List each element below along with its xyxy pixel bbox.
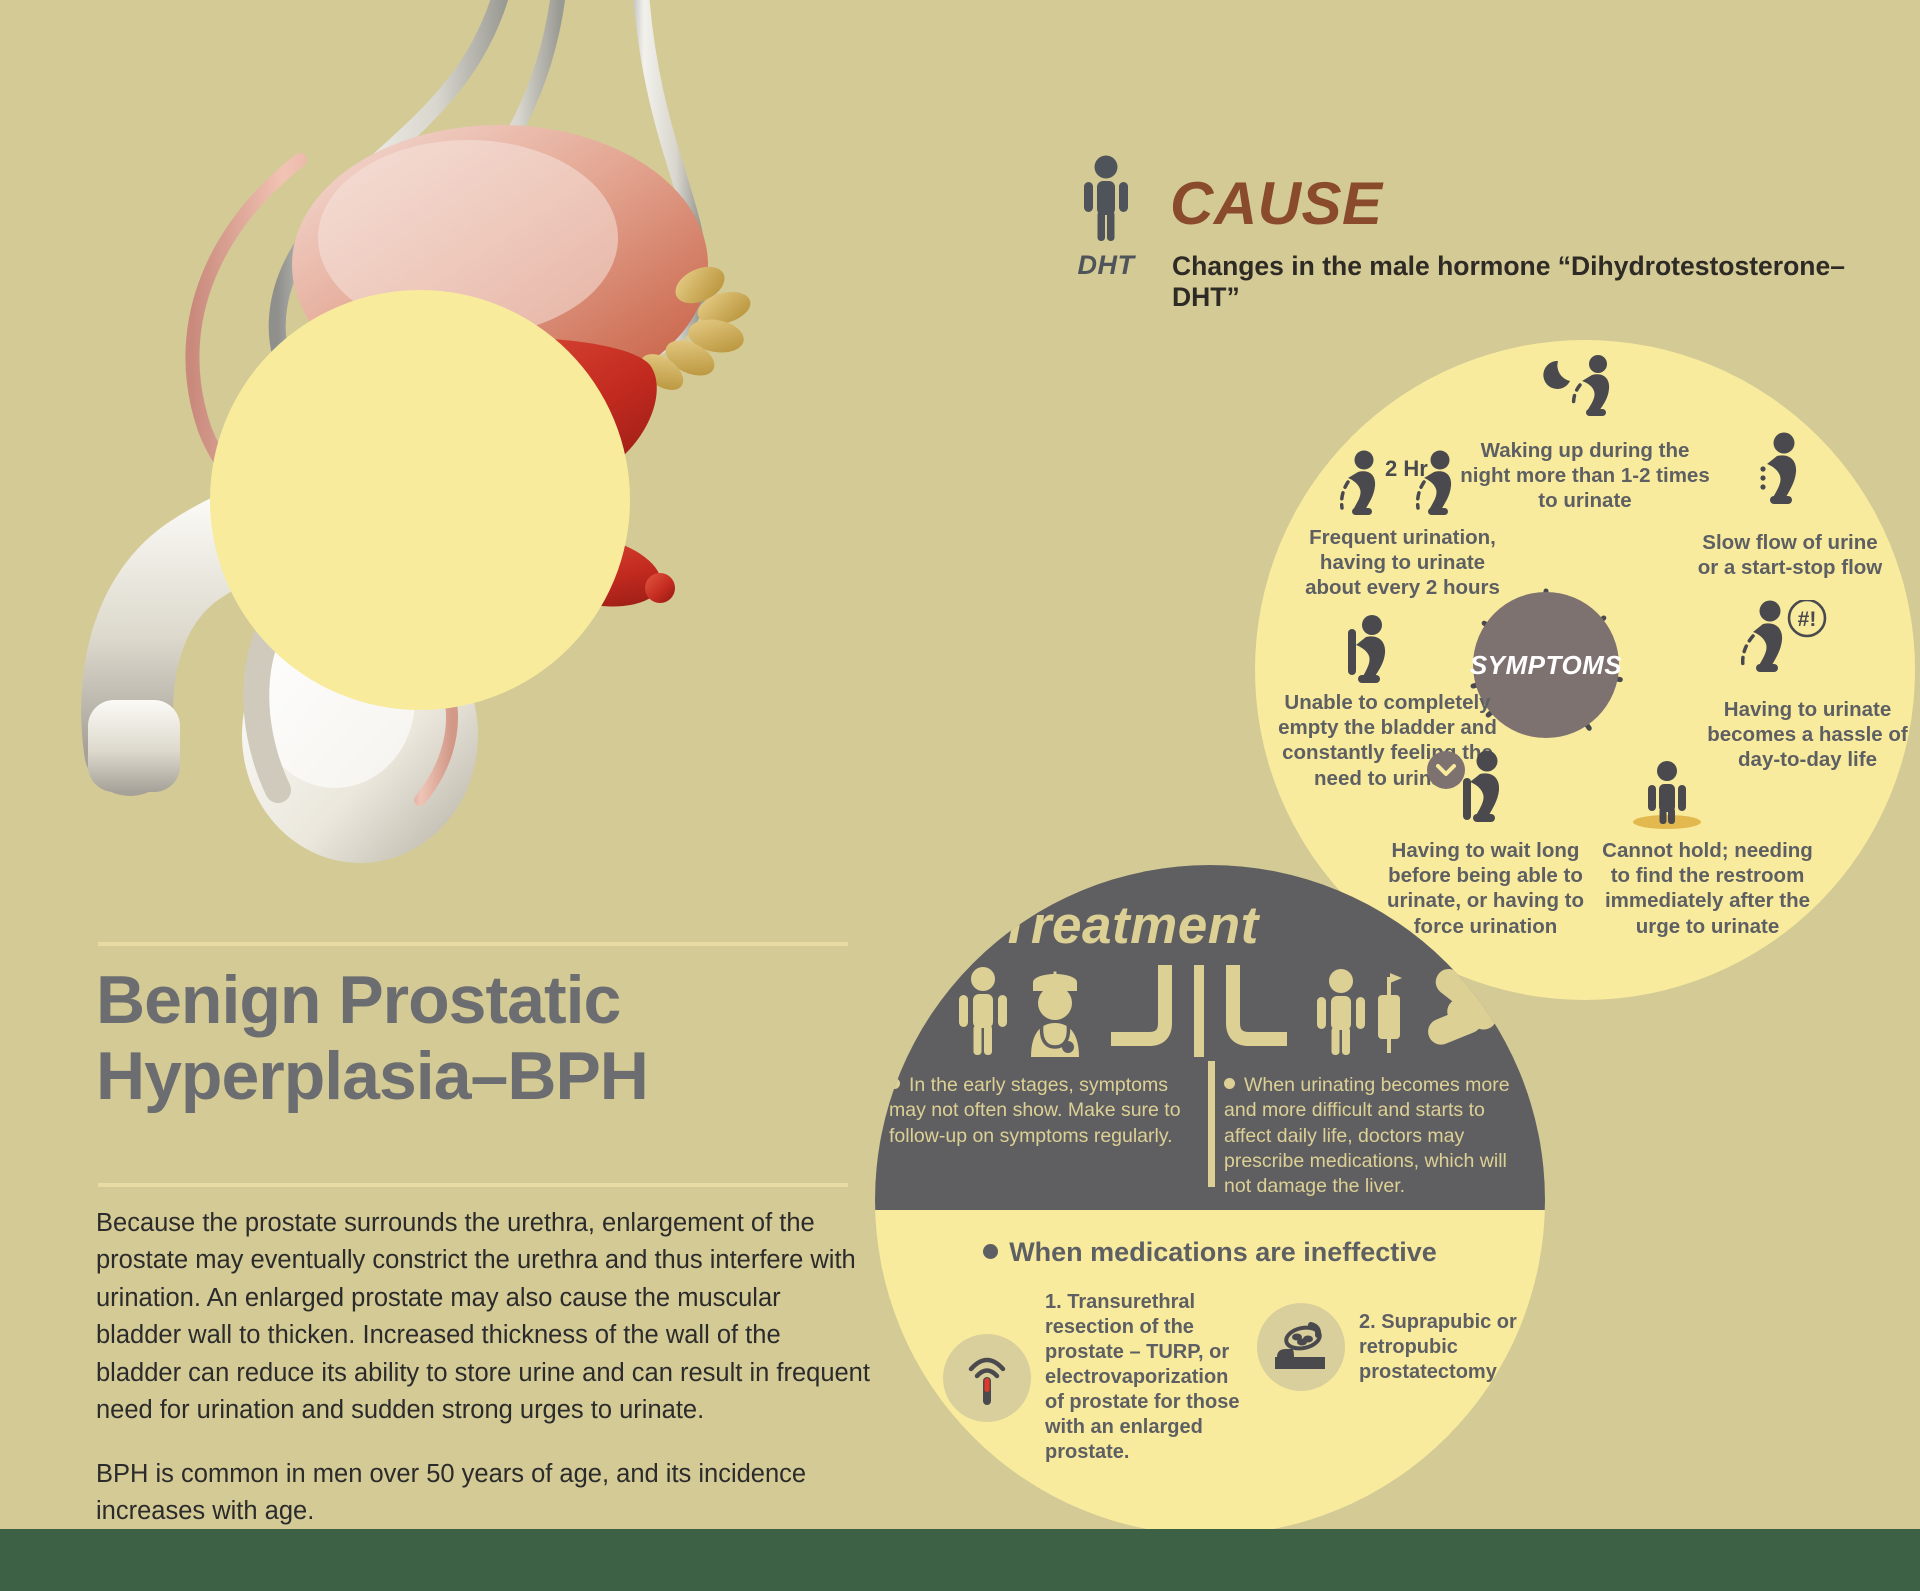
symptom-icon-hassle: #! bbox=[1725, 600, 1835, 689]
patient-icon bbox=[959, 967, 1007, 1055]
cause-subtitle: Changes in the male hormone “Dihydrotest… bbox=[1172, 251, 1872, 313]
symptom-text-frequent: Frequent urination, having to urinate ab… bbox=[1295, 525, 1510, 601]
symptom-text-slow-flow: Slow flow of urine or a start-stop flow bbox=[1690, 530, 1890, 580]
treatment-column-2: When urinating becomes more and more dif… bbox=[1210, 1073, 1545, 1200]
symptoms-hub-label: SYMPTOMS bbox=[1470, 650, 1622, 681]
surgery-lamp-icon bbox=[1257, 1303, 1345, 1391]
ineffective-heading-text: When medications are ineffective bbox=[1009, 1237, 1437, 1267]
treatment-option-prostatectomy-text: 2. Suprapubic or retropubic prostatectom… bbox=[1359, 1310, 1527, 1385]
ineffective-heading: When medications are ineffective bbox=[875, 1237, 1545, 1268]
man-icon bbox=[1317, 969, 1365, 1055]
symptom-icon-slow-flow bbox=[1752, 432, 1812, 517]
treatment-icon-row bbox=[935, 965, 1495, 1057]
symptom-icon-night bbox=[1540, 355, 1630, 426]
pills-icon bbox=[1424, 965, 1495, 1049]
person-icon bbox=[1078, 155, 1134, 241]
treatment-column-2-text: When urinating becomes more and more dif… bbox=[1224, 1074, 1510, 1197]
cause-title: CAUSE bbox=[1170, 169, 1383, 238]
title-rule-top bbox=[98, 942, 848, 946]
treatment-title: Treatment bbox=[999, 895, 1259, 956]
description-paragraph-1: Because the prostate surrounds the ureth… bbox=[96, 1205, 871, 1430]
treatment-column-1: In the early stages, symptoms may not of… bbox=[875, 1073, 1210, 1200]
treatment-option-turp-text: 1. Transurethral resection of the prosta… bbox=[1045, 1290, 1243, 1465]
bullet-icon bbox=[983, 1244, 998, 1259]
page-title: Benign Prostatic Hyperplasia–BPH bbox=[96, 962, 896, 1114]
bottom-accent-strip bbox=[0, 1529, 1920, 1591]
treatment-option-turp: 1. Transurethral resection of the prosta… bbox=[943, 1290, 1243, 1465]
title-rule-bottom bbox=[98, 1183, 848, 1187]
dht-icon-group: DHT bbox=[1060, 155, 1152, 281]
description-paragraph-2: BPH is common in men over 50 years of ag… bbox=[96, 1456, 871, 1531]
resectoscope-icon bbox=[943, 1334, 1031, 1422]
illustration-backdrop-circle bbox=[210, 290, 630, 710]
bullet-icon bbox=[889, 1078, 900, 1089]
symptom-text-hassle: Having to urinate becomes a hassle of da… bbox=[1700, 697, 1915, 773]
bullet-icon bbox=[1224, 1078, 1235, 1089]
treatment-circle: Treatment bbox=[875, 865, 1545, 1535]
svg-text:#!: #! bbox=[1798, 608, 1817, 631]
anatomy-illustration bbox=[0, 0, 880, 950]
doctor-icon bbox=[1031, 972, 1079, 1058]
divider-bar bbox=[1194, 965, 1204, 1057]
dht-label: DHT bbox=[1060, 250, 1152, 281]
treatment-option-prostatectomy: 2. Suprapubic or retropubic prostatectom… bbox=[1257, 1303, 1527, 1391]
treatment-column-1-text: In the early stages, symptoms may not of… bbox=[889, 1074, 1181, 1147]
symptom-icon-frequent: 2 Hr bbox=[1340, 450, 1460, 533]
infographic-page: Benign Prostatic Hyperplasia–BPH Because… bbox=[0, 0, 1920, 1591]
symptom-icon-cannot-hold bbox=[1625, 760, 1705, 835]
symptom-text-cannot-hold: Cannot hold; needing to find the restroo… bbox=[1600, 838, 1815, 939]
symptom-icon-wait-long bbox=[1425, 750, 1535, 837]
treatment-columns: In the early stages, symptoms may not of… bbox=[875, 1073, 1545, 1200]
description-block: Because the prostate surrounds the ureth… bbox=[96, 1205, 871, 1531]
symptom-text-night: Waking up during the night more than 1-2… bbox=[1455, 438, 1715, 514]
syringe-icon bbox=[1378, 973, 1402, 1053]
symptom-icon-incomplete bbox=[1340, 615, 1400, 692]
svg-text:2 Hr: 2 Hr bbox=[1385, 456, 1428, 481]
